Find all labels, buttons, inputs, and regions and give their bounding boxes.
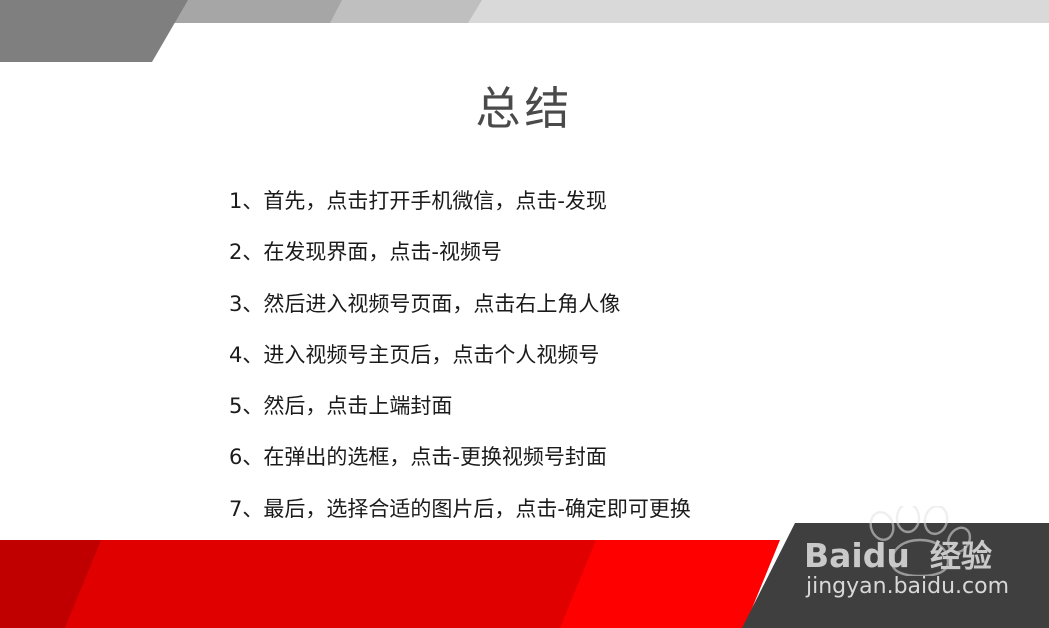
band-red-bright (560, 540, 780, 628)
list-item: 2、在发现界面，点击-视频号 (229, 227, 989, 278)
slide-canvas: 总结 1、首先，点击打开手机微信，点击-发现 2、在发现界面，点击-视频号 3、… (0, 0, 1049, 628)
list-item: 6、在弹出的选框，点击-更换视频号封面 (229, 432, 989, 483)
summary-step-list: 1、首先，点击打开手机微信，点击-发现 2、在发现界面，点击-视频号 3、然后进… (229, 176, 989, 535)
band-red-dark (0, 540, 103, 628)
band-light-2 (174, 0, 342, 23)
list-item: 5、然后，点击上端封面 (229, 381, 989, 432)
page-title: 总结 (0, 86, 1049, 131)
baidu-logo-cn: 经验 (930, 539, 992, 574)
baidu-logo-latin: Baidu (804, 538, 910, 574)
band-light-4 (466, 0, 1049, 23)
baidu-watermark: Baidu 经验 jingyan.baidu.com (798, 528, 1049, 628)
list-item: 3、然后进入视频号页面，点击右上角人像 (229, 279, 989, 330)
top-decoration-bands (0, 0, 1049, 70)
list-item: 1、首先，点击打开手机微信，点击-发现 (229, 176, 989, 227)
watermark-url: jingyan.baidu.com (806, 574, 1009, 599)
list-item: 4、进入视频号主页后，点击个人视频号 (229, 330, 989, 381)
baidu-logo: Baidu 经验 (804, 538, 1049, 574)
band-dark-1 (0, 0, 188, 62)
band-red-mid (65, 540, 598, 628)
band-light-3 (328, 0, 482, 23)
